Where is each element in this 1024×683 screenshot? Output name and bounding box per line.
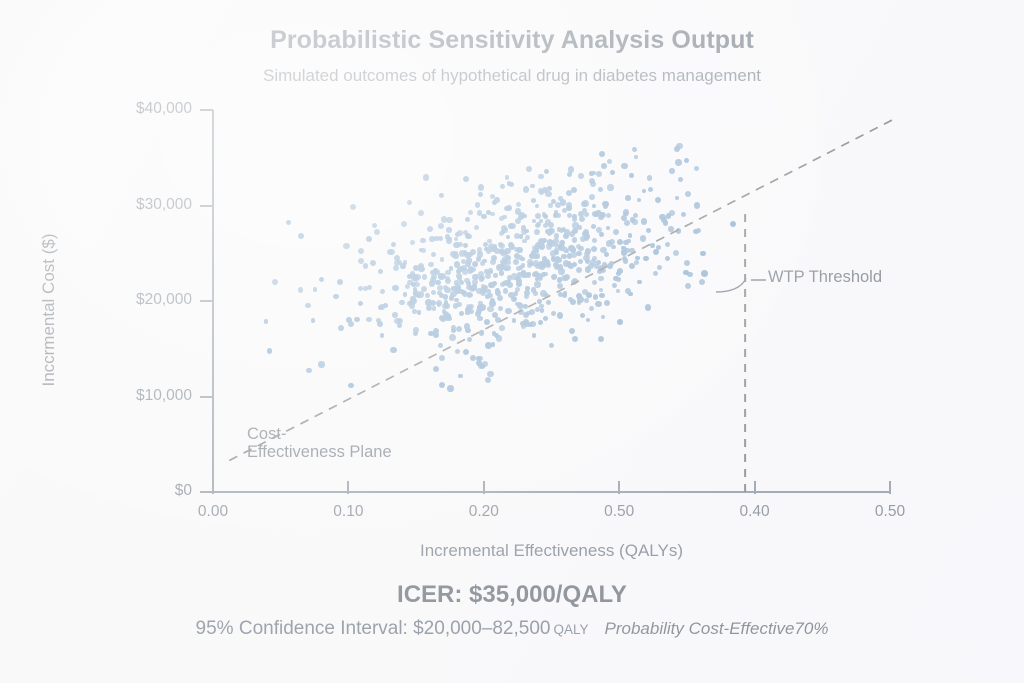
scatter-point	[417, 310, 422, 315]
scatter-point	[437, 291, 442, 296]
scatter-point	[557, 312, 564, 319]
scatter-point	[468, 210, 473, 215]
scatter-point	[576, 267, 582, 273]
scatter-point	[576, 251, 581, 256]
y-tick-mark	[200, 300, 213, 302]
x-axis-title: Incremental Effectiveness (QALYs)	[213, 541, 890, 561]
scatter-point	[452, 254, 456, 258]
scatter-point	[684, 260, 690, 266]
scatter-point	[586, 293, 591, 298]
scatter-point	[650, 243, 655, 248]
scatter-point	[655, 197, 661, 203]
scatter-point	[446, 217, 452, 223]
scatter-point	[623, 258, 629, 264]
scatter-point	[468, 293, 473, 298]
scatter-point	[685, 191, 691, 197]
scatter-point	[298, 233, 304, 239]
scatter-point	[439, 193, 444, 198]
scatter-point	[422, 274, 427, 279]
y-tick-label: $40,000	[136, 100, 192, 118]
scatter-point	[485, 377, 491, 383]
scatter-point	[563, 233, 569, 239]
scatter-point	[494, 197, 500, 203]
scatter-point	[438, 343, 443, 348]
scatter-point	[412, 309, 417, 314]
scatter-point	[514, 291, 519, 296]
scatter-point	[457, 230, 463, 236]
scatter-point	[502, 215, 506, 219]
scatter-point	[451, 328, 456, 333]
scatter-point	[445, 270, 451, 276]
scatter-point	[616, 277, 620, 281]
scatter-point	[380, 333, 384, 337]
scatter-point	[455, 349, 461, 355]
scatter-point	[370, 260, 376, 266]
scatter-point	[399, 300, 405, 306]
scatter-point	[378, 305, 383, 310]
scatter-point	[611, 245, 616, 250]
scatter-point	[529, 262, 533, 266]
scatter-point	[471, 284, 477, 290]
scatter-point	[376, 318, 381, 323]
scatter-point	[555, 202, 561, 208]
scatter-point	[298, 287, 304, 293]
scatter-point	[354, 317, 359, 322]
scatter-point	[521, 263, 526, 268]
scatter-point	[637, 198, 641, 202]
scatter-point	[562, 208, 567, 213]
scatter-point	[286, 220, 291, 225]
scatter-point	[350, 204, 356, 210]
scatter-point	[635, 256, 640, 261]
scatter-point	[540, 290, 547, 297]
scatter-point	[523, 186, 529, 192]
scatter-point	[592, 238, 597, 243]
scatter-point	[313, 287, 318, 292]
scatter-point	[378, 269, 383, 274]
scatter-point	[509, 182, 514, 187]
scatter-point	[456, 273, 462, 279]
scatter-point	[602, 201, 608, 207]
footer-stats: 95% Confidence Interval: $20,000–82,500Q…	[0, 618, 1024, 640]
scatter-point	[589, 194, 595, 200]
scatter-point	[515, 208, 522, 215]
scatter-point	[674, 146, 680, 152]
scatter-point	[495, 290, 501, 296]
scatter-point	[599, 288, 603, 292]
scatter-point	[554, 248, 558, 252]
scatter-point	[495, 317, 501, 323]
scatter-point	[480, 261, 485, 266]
scatter-point	[616, 271, 621, 276]
scatter-point	[633, 213, 638, 218]
probability-cost-effective: Probability Cost-Effective70%	[605, 619, 829, 639]
scatter-point	[358, 286, 363, 291]
scatter-point	[413, 265, 419, 271]
scatter-point	[578, 259, 583, 264]
scatter-point	[544, 169, 549, 174]
scatter-point	[425, 299, 431, 305]
scatter-point	[444, 287, 450, 293]
scatter-point	[606, 213, 611, 218]
scatter-point	[401, 221, 407, 227]
scatter-point	[592, 280, 597, 285]
scatter-point	[457, 267, 462, 272]
scatter-point	[596, 171, 602, 177]
plane-label-line-1: Cost-	[247, 425, 447, 443]
scatter-point	[505, 265, 511, 271]
scatter-point	[449, 334, 456, 341]
scatter-point	[613, 229, 619, 235]
scatter-point	[676, 228, 681, 233]
scatter-point	[558, 196, 563, 201]
scatter-point	[584, 298, 589, 303]
scatter-point	[621, 163, 627, 169]
scatter-point	[481, 214, 487, 220]
x-tick-label: 0.50	[579, 503, 659, 521]
scatter-point	[264, 319, 269, 324]
scatter-point	[518, 214, 524, 220]
scatter-point	[390, 347, 396, 353]
scatter-point	[558, 268, 564, 274]
scatter-point	[579, 216, 585, 222]
scatter-point	[586, 234, 591, 239]
scatter-point	[572, 237, 577, 242]
chart-canvas: Probabilistic Sensitivity Analysis Outpu…	[0, 0, 1024, 683]
wtp-threshold-label: WTP Threshold	[768, 268, 882, 286]
scatter-point	[555, 256, 560, 261]
scatter-point	[523, 304, 528, 309]
scatter-point	[439, 355, 445, 361]
scatter-point	[496, 264, 502, 270]
scatter-point	[563, 260, 570, 267]
scatter-point	[535, 223, 540, 228]
scatter-point	[410, 240, 415, 245]
scatter-point	[577, 300, 582, 305]
scatter-point	[478, 184, 484, 190]
scatter-point	[572, 228, 578, 234]
scatter-point	[584, 212, 590, 218]
scatter-point	[581, 201, 587, 207]
scatter-point	[572, 214, 577, 219]
scatter-point	[526, 166, 532, 172]
scatter-point	[543, 272, 548, 277]
scatter-point	[465, 328, 470, 333]
scatter-point	[456, 326, 463, 333]
scatter-point	[492, 331, 497, 336]
scatter-point	[487, 371, 493, 377]
scatter-point	[363, 263, 368, 268]
scatter-point	[447, 385, 453, 391]
scatter-point	[566, 190, 572, 196]
scatter-point	[305, 303, 311, 309]
scatter-point	[311, 318, 316, 323]
scatter-point	[548, 203, 553, 208]
scatter-point	[675, 159, 681, 165]
scatter-point	[496, 335, 503, 342]
scatter-point	[535, 204, 539, 208]
scatter-point	[545, 191, 552, 198]
scatter-point	[578, 173, 584, 179]
y-tick-mark	[200, 109, 213, 111]
scatter-point	[516, 202, 521, 207]
scatter-point	[358, 248, 364, 254]
scatter-point	[461, 290, 465, 294]
scatter-point	[413, 327, 419, 333]
scatter-point	[534, 229, 540, 235]
scatter-point	[358, 301, 363, 306]
scatter-point	[571, 252, 577, 258]
scatter-point	[427, 226, 433, 232]
scatter-point	[665, 242, 670, 247]
scatter-point	[610, 170, 615, 175]
scatter-point	[338, 325, 344, 331]
scatter-point	[599, 293, 605, 299]
scatter-point	[622, 247, 628, 253]
y-tick-label: $10,000	[136, 387, 192, 405]
scatter-point	[645, 304, 652, 311]
cost-effectiveness-plane-annotation: Cost- Effectiveness Plane	[247, 425, 447, 462]
scatter-point	[681, 212, 686, 217]
scatter-point	[657, 265, 662, 270]
plane-label-line-2: Effectiveness Plane	[247, 443, 447, 461]
scatter-point	[477, 247, 482, 252]
scatter-point	[267, 348, 273, 354]
scatter-point	[551, 311, 556, 316]
scatter-point	[607, 159, 612, 164]
scatter-point	[623, 209, 629, 215]
scatter-point	[319, 277, 324, 282]
scatter-point	[598, 187, 603, 192]
scatter-point	[423, 174, 429, 180]
confidence-interval-label: 95% Confidence Interval: $20,000–82,500	[196, 618, 551, 639]
scatter-point	[549, 343, 554, 348]
scatter-point	[400, 263, 405, 268]
scatter-point	[653, 249, 659, 255]
scatter-point	[489, 300, 495, 306]
scatter-point	[584, 251, 590, 257]
x-tick-label: 0.50	[850, 503, 930, 521]
scatter-point	[504, 248, 510, 254]
scatter-point	[609, 261, 614, 266]
scatter-point	[634, 155, 638, 159]
scatter-point	[572, 336, 578, 342]
scatter-point	[696, 228, 701, 233]
scatter-point	[491, 342, 496, 347]
chart-title: Probabilistic Sensitivity Analysis Outpu…	[0, 26, 1024, 55]
scatter-point	[374, 229, 380, 235]
scatter-point	[601, 163, 607, 169]
scatter-point	[580, 313, 585, 318]
scatter-point	[634, 260, 639, 265]
scatter-point	[539, 243, 546, 250]
scatter-point	[498, 306, 503, 311]
y-tick-mark	[200, 396, 213, 398]
scatter-point	[505, 308, 511, 314]
scatter-point	[668, 226, 673, 231]
x-tick-label: 0.00	[173, 503, 253, 521]
scatter-point	[366, 236, 372, 242]
scatter-point	[411, 298, 417, 304]
scatter-point	[508, 223, 514, 229]
scatter-point	[648, 187, 653, 192]
x-tick-label: 0.40	[715, 503, 795, 521]
scatter-point	[534, 255, 539, 260]
scatter-point	[543, 214, 548, 219]
scatter-point	[595, 301, 601, 307]
scatter-point	[628, 233, 633, 238]
scatter-point	[421, 248, 426, 253]
scatter-point	[532, 333, 537, 338]
scatter-point	[607, 184, 613, 190]
scatter-point	[694, 202, 701, 209]
scatter-point	[478, 192, 483, 197]
scatter-point	[685, 283, 691, 289]
scatter-point	[392, 312, 398, 318]
scatter-point	[653, 271, 658, 276]
scatter-point	[443, 294, 448, 299]
scatter-point	[563, 247, 569, 253]
scatter-point	[643, 256, 649, 262]
scatter-point	[675, 196, 680, 201]
scatter-point	[488, 270, 493, 275]
scatter-point	[730, 221, 736, 227]
scatter-point	[431, 252, 436, 257]
scatter-point	[403, 292, 408, 297]
scatter-point	[413, 276, 419, 282]
scatter-point	[463, 250, 468, 255]
scatter-point	[557, 277, 563, 283]
scatter-point	[372, 223, 377, 228]
scatter-point	[601, 315, 605, 319]
scatter-point	[537, 299, 542, 304]
scatter-point	[445, 234, 451, 240]
confidence-interval: 95% Confidence Interval: $20,000–82,500Q…	[196, 618, 589, 640]
scatter-point	[632, 219, 638, 225]
scatter-point	[586, 318, 591, 323]
scatter-point	[463, 243, 468, 248]
y-axis-title: Inccrmental Cost ($)	[39, 195, 59, 425]
scatter-point	[535, 264, 541, 270]
scatter-point	[458, 374, 463, 379]
scatter-point	[617, 319, 623, 325]
scatter-point	[572, 278, 578, 284]
scatter-point	[475, 202, 481, 208]
scatter-point	[547, 239, 553, 245]
scatter-point	[383, 303, 388, 308]
scatter-point	[656, 245, 661, 250]
scatter-point	[606, 240, 613, 247]
scatter-point	[665, 256, 670, 261]
scatter-point	[480, 290, 486, 296]
scatter-point	[548, 222, 554, 228]
scatter-point	[318, 361, 324, 367]
scatter-point	[516, 266, 521, 271]
scatter-point	[487, 306, 493, 312]
scatter-point	[407, 200, 412, 205]
scatter-point	[459, 280, 464, 285]
scatter-point	[456, 302, 462, 308]
scatter-point	[337, 279, 343, 285]
scatter-point	[561, 254, 566, 259]
scatter-point	[380, 289, 385, 294]
scatter-point	[438, 236, 443, 241]
scatter-point	[484, 319, 490, 325]
scatter-point	[623, 240, 629, 246]
scatter-point	[431, 290, 436, 295]
scatter-point	[391, 242, 396, 247]
scatter-point	[405, 284, 410, 289]
scatter-point	[493, 273, 498, 278]
scatter-point	[499, 270, 505, 276]
scatter-point	[612, 283, 617, 288]
scatter-point	[437, 302, 442, 307]
scatter-point	[500, 184, 505, 189]
scatter-point	[629, 173, 634, 178]
scatter-point	[487, 239, 492, 244]
scatter-point	[701, 270, 708, 277]
scatter-point	[543, 316, 548, 321]
scatter-point	[699, 279, 705, 285]
scatter-point	[463, 349, 469, 355]
y-tick-mark	[200, 205, 213, 207]
scatter-point	[520, 257, 525, 262]
scatter-point	[666, 213, 672, 219]
scatter-point	[449, 295, 454, 300]
scatter-point	[454, 242, 461, 249]
scatter-point	[563, 275, 569, 281]
scatter-point	[700, 251, 705, 256]
x-tick-label: 0.10	[308, 503, 388, 521]
scatter-point	[530, 184, 534, 188]
scatter-point	[606, 226, 610, 230]
scatter-point	[467, 337, 472, 342]
scatter-point	[429, 236, 435, 242]
scatter-point	[592, 204, 597, 209]
y-tick-label: $30,000	[136, 196, 192, 214]
y-tick-label: $20,000	[136, 291, 192, 309]
scatter-point	[343, 243, 349, 249]
scatter-point	[591, 224, 596, 229]
scatter-point	[494, 248, 500, 254]
scatter-point	[647, 175, 653, 181]
scatter-point	[449, 266, 453, 270]
scatter-point	[538, 174, 543, 179]
scatter-point	[604, 300, 610, 306]
scatter-point	[663, 220, 668, 225]
scatter-point	[642, 189, 647, 194]
scatter-point	[583, 229, 589, 235]
scatter-point	[518, 309, 524, 315]
scatter-point	[567, 172, 572, 177]
scatter-point	[439, 382, 445, 388]
scatter-point	[599, 151, 605, 157]
scatter-point	[420, 238, 425, 243]
scatter-point	[637, 280, 642, 285]
scatter-point	[539, 304, 543, 308]
scatter-point	[632, 147, 637, 152]
scatter-point	[428, 262, 433, 267]
scatter-point	[616, 289, 621, 294]
scatter-point	[446, 227, 451, 232]
scatter-point	[513, 259, 519, 265]
scatter-point	[418, 266, 424, 272]
scatter-point	[506, 205, 512, 211]
scatter-point	[348, 383, 353, 388]
scatter-point	[629, 248, 634, 253]
scatter-point	[593, 294, 598, 299]
scatter-point	[578, 246, 583, 251]
